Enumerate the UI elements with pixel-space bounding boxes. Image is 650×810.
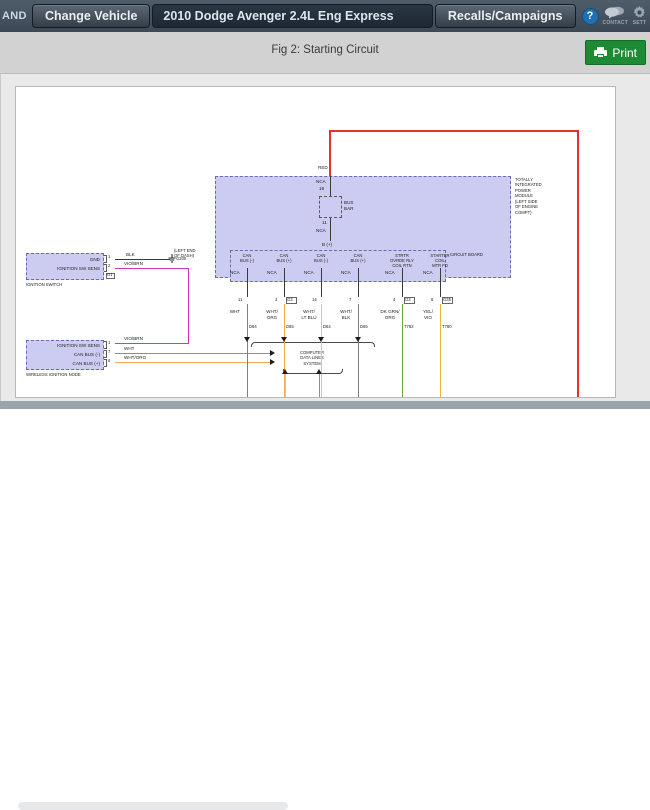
pin-number-4: 4 [393, 298, 395, 303]
pin-nca-0: NCA [230, 270, 240, 275]
pin-lead-3 [358, 268, 359, 297]
blk-wire-label: BLK [126, 252, 135, 257]
pin-connector-5: G35 [443, 298, 451, 303]
wire-cavity-5: T780 [442, 325, 452, 330]
vehicle-display[interactable]: 2010 Dodge Avenger 2.4L Eng Express [152, 4, 432, 28]
cdl-lower-line-2 [319, 374, 320, 398]
print-button[interactable]: Print [585, 40, 646, 65]
pin-number-5: 8 [431, 298, 433, 303]
wire-color-3: WHT/ BLK [334, 309, 358, 320]
b-plus-label: B (+) [322, 242, 332, 247]
help-icon: ? [582, 8, 599, 25]
red-wire-right-drop [577, 130, 579, 398]
wht-arrow-win [270, 350, 275, 356]
cdl-down-arrow-2 [318, 337, 324, 342]
win-connector-3 [104, 359, 107, 367]
red-wire-top [329, 130, 579, 132]
ignition-pin-num-1: 1 [108, 255, 110, 260]
gear-icon [632, 6, 647, 19]
wiring-diagram[interactable]: RED TOTALLY INTEGRATED POWER MODULE (LEF… [15, 86, 616, 398]
figure-toolbar: Fig 2: Starting Circuit Print [0, 32, 650, 74]
wire-run-5 [440, 304, 441, 398]
cdl-down-arrow-0 [244, 337, 250, 342]
win-pin-can-plus: CAN BUS (+) [34, 361, 100, 366]
wht-org-label-win: WHT/ORG [124, 355, 146, 360]
print-label: Print [612, 46, 637, 60]
ground-id-label: G200 [176, 257, 186, 262]
horizontal-scrollbar-thumb[interactable] [18, 802, 288, 810]
wire-cavity-2: D64 [323, 325, 331, 330]
cdl-down-arrow-1 [281, 337, 287, 342]
ignition-connector-2 [104, 264, 107, 272]
tipm-pin-11: 11 [322, 220, 327, 225]
tipm-pin-19: 19 [319, 186, 324, 191]
settings-label: SETT [633, 20, 647, 26]
tipm-nca-bottom: NCA [316, 228, 326, 233]
vio-brn-wire-top [115, 268, 189, 269]
chat-bubble-icon [605, 6, 625, 19]
cdl-down-arrow-3 [355, 337, 361, 342]
wire-cavity-4: T782 [404, 325, 414, 330]
pin-number-1: 3 [275, 298, 277, 303]
settings-button[interactable]: SETT [632, 6, 647, 26]
pin-number-2: 14 [312, 298, 317, 303]
contact-label: CONTACT [603, 20, 628, 26]
pin-connector-4: G3 [405, 298, 411, 303]
bus-bar-label: BUS BAR [344, 200, 353, 211]
pin-connector-1: G3 [287, 298, 293, 303]
wire-cavity-1: D65 [286, 325, 294, 330]
ignition-connector-1 [104, 255, 107, 263]
document-canvas: RED TOTALLY INTEGRATED POWER MODULE (LEF… [0, 74, 650, 401]
ignition-pin-num-g1: G1 [107, 273, 113, 278]
bus-bar-lead-top [330, 176, 331, 196]
ignition-switch-pin-gnd: GND [44, 257, 100, 262]
recalls-campaigns-button[interactable]: Recalls/Campaigns [435, 4, 576, 28]
pin-number-0: 11 [238, 298, 242, 303]
pin-nca-5: NCA [423, 270, 433, 275]
win-connector-1 [104, 341, 107, 349]
cdl-bottom-brace [283, 369, 343, 374]
win-pin-can-minus: CAN BUS (-) [34, 352, 100, 357]
vio-brn-label-bottom: VIO/BRN [124, 336, 143, 341]
cdl-top-brace [251, 342, 375, 347]
ground-symbol-icon [168, 254, 176, 264]
ignition-switch-caption: IGNITION SWITCH [26, 283, 62, 288]
blk-wire [115, 259, 170, 260]
wire-run-3 [358, 304, 359, 398]
wire-run-0 [247, 304, 248, 398]
pin-nca-3: NCA [341, 270, 351, 275]
ignition-pin-num-2: 2 [108, 264, 110, 269]
win-caption: WIRELESS IGNITION NODE [26, 373, 81, 378]
pin-lead-4 [402, 268, 403, 297]
win-pin-num-6: 6 [108, 359, 110, 364]
pin-nca-2: NCA [304, 270, 314, 275]
vio-brn-wire-drop [188, 268, 189, 343]
bus-bar [319, 196, 342, 218]
wire-color-0: WHT [223, 309, 247, 315]
win-pin-sens: IGNITION SW SENS [34, 343, 100, 348]
wht-label-win: WHT [124, 346, 134, 351]
wht-org-arrow-win [270, 359, 275, 365]
tipm-caption: TOTALLY INTEGRATED POWER MODULE (LEFT SI… [515, 177, 542, 215]
win-pin-num-1: 1 [108, 341, 110, 346]
vio-brn-label-top: VIO/BRN [124, 261, 143, 266]
ignition-switch-pin-sens: IGNITION SW SENS [34, 266, 100, 271]
help-button[interactable]: ? [582, 8, 599, 25]
wire-color-4: DK GRN/ ORG [378, 309, 402, 320]
computer-data-lines-label: COMPUTER DATA LINES SYSTEM [282, 350, 342, 366]
pin-lead-0 [247, 268, 248, 297]
wire-color-5: YEL/ VIO [416, 309, 440, 320]
cdl-lower-line-1 [285, 374, 286, 398]
change-vehicle-button[interactable]: Change Vehicle [32, 4, 150, 28]
wire-run-4 [402, 304, 403, 398]
wire-color-2: WHT/ LT BLU [297, 309, 321, 320]
win-connector-2 [104, 350, 107, 358]
wire-color-1: WHT/ ORG [260, 309, 284, 320]
horizontal-scrollbar-track[interactable] [0, 401, 650, 409]
bar-icon-group: ? CONTACT SETT [576, 6, 650, 26]
pin-nca-4: NCA [385, 270, 395, 275]
application-bar: AND Change Vehicle 2010 Dodge Avenger 2.… [0, 0, 650, 32]
bus-bar-lead-bottom [330, 218, 331, 241]
tipm-nca-top: NCA [316, 179, 326, 184]
contact-button[interactable]: CONTACT [603, 6, 628, 26]
page-title: Fig 2: Starting Circuit [0, 44, 650, 56]
wire-run-2 [321, 304, 322, 398]
printer-icon [594, 47, 607, 58]
red-wire-label: RED [318, 165, 328, 170]
red-wire-left-riser [329, 130, 331, 176]
vio-brn-wire-bottom [115, 343, 189, 344]
pin-lead-1 [284, 268, 285, 297]
wire-cavity-3: D65 [360, 325, 368, 330]
pin-nca-1: NCA [267, 270, 277, 275]
win-pin-num-7: 7 [108, 350, 110, 355]
pin-number-3: 7 [349, 298, 351, 303]
wire-cavity-0: D64 [249, 325, 257, 330]
pin-name-5: STARTER COIL MTR FD [418, 253, 462, 268]
pin-lead-5 [440, 268, 441, 297]
pin-name-3: CAN BUS (+) [336, 253, 380, 263]
pin-lead-2 [321, 268, 322, 297]
brand-label: AND [0, 10, 32, 22]
